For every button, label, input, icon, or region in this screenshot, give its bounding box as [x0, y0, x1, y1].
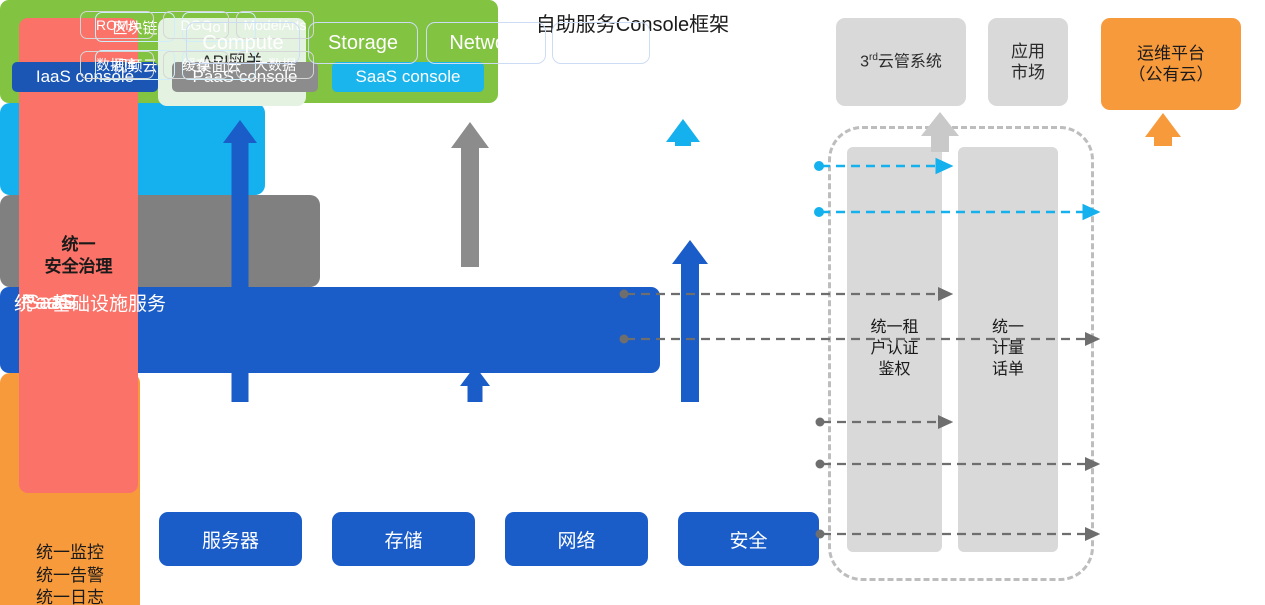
ops-platform-public-cloud-box: 运维平台 （公有云）: [1101, 18, 1241, 110]
arrow-paas-to-console: [451, 122, 489, 267]
arrow-infra-to-saas: [672, 240, 708, 402]
resource-box-storage: 存储: [332, 512, 475, 566]
third-party-cloud-label: 3rd云管系统: [860, 52, 942, 72]
arrow-saas-to-console: [666, 119, 700, 146]
third-party-cloud-management-box: 3rd云管系统: [836, 18, 966, 106]
infra-service-cce[interactable]: CCE: [552, 22, 650, 64]
column-label: 统一租 户认证 鉴权: [870, 318, 918, 380]
resource-box-server: 服务器: [159, 512, 302, 566]
column-unified-tenant-auth: 统一租 户认证 鉴权: [847, 147, 942, 552]
infrastructure-label: 统一基础设施服务: [14, 0, 166, 605]
column-unified-metering: 统一 计量 话单: [958, 147, 1058, 552]
infra-service-compute[interactable]: Compute: [186, 22, 300, 64]
infra-service-network[interactable]: Network: [426, 22, 546, 64]
resource-box-network: 网络: [505, 512, 648, 566]
resource-box-security: 安全: [678, 512, 819, 566]
unified-infrastructure-service-bar: 统一基础设施服务 Compute Storage Network CCE: [0, 287, 660, 373]
app-market-box: 应用 市场: [988, 18, 1068, 106]
infra-service-storage[interactable]: Storage: [308, 22, 418, 64]
column-label: 统一 计量 话单: [992, 318, 1024, 380]
saas-console-label: SaaS console: [356, 67, 461, 87]
app-market-label: 应用 市场: [1011, 41, 1045, 84]
architecture-diagram: 统一租 户认证 鉴权 统一 计量 话单 统一 安全治理 API网关 自助服务Co…: [0, 0, 1265, 605]
arrow-ops-pillar-to-ops-platform: [1145, 113, 1181, 146]
ops-platform-label: 运维平台 （公有云）: [1129, 43, 1214, 86]
saas-console-chip[interactable]: SaaS console: [332, 62, 484, 92]
